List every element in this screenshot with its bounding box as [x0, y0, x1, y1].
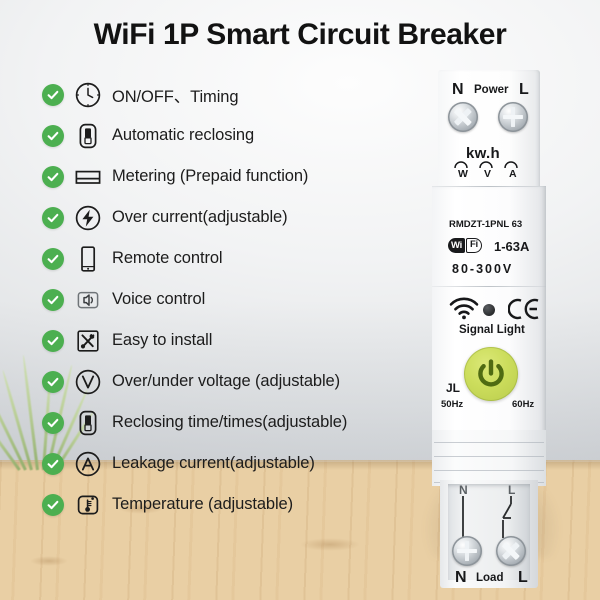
- feature-label: Temperature (adjustable): [112, 495, 293, 514]
- switch-icon: [73, 121, 103, 151]
- feature-row: Remote control: [42, 238, 412, 279]
- brand-label: JL: [446, 382, 460, 394]
- switch-icon: [73, 408, 103, 438]
- page-title: WiFi 1P Smart Circuit Breaker: [0, 18, 600, 52]
- ce-mark-icon: [508, 298, 540, 320]
- housing-ridge: [434, 470, 544, 471]
- feature-row: Automatic reclosing: [42, 115, 412, 156]
- feature-row: Reclosing time/times(adjustable): [42, 402, 412, 443]
- bottom-terminal-line-label: L: [518, 570, 528, 586]
- housing-seam: [432, 286, 546, 287]
- checkmark-icon: [42, 125, 64, 147]
- feature-label: Over current(adjustable): [112, 208, 288, 227]
- tools-icon: [73, 326, 103, 356]
- feature-label: Easy to install: [112, 331, 212, 350]
- signal-light-label: Signal Light: [459, 325, 525, 337]
- circuit-breaker-device: N Power L kw.h W V A RMDZT-1PNL 63 Wi Fi…: [432, 70, 546, 552]
- smartphone-icon: [73, 244, 103, 274]
- feature-label: Voice control: [112, 290, 205, 309]
- housing-seam: [432, 186, 546, 187]
- current-rating-label: 1-63A: [494, 240, 529, 253]
- checkmark-icon: [42, 84, 64, 106]
- power-symbol-icon: [474, 357, 508, 391]
- wood-knot: [30, 556, 68, 566]
- wifi-badge: Wi Fi: [448, 238, 482, 253]
- checkmark-icon: [42, 248, 64, 270]
- bottom-terminal-neutral-label: N: [455, 570, 467, 586]
- voltage-rating-label: 80-300V: [452, 263, 513, 276]
- wifi-badge-fi: Fi: [466, 238, 482, 253]
- signal-light-led: [483, 304, 495, 316]
- feature-row: Over current(adjustable): [42, 197, 412, 238]
- device-lower-housing: [432, 430, 546, 486]
- feature-label: ON/OFF、Timing: [112, 83, 238, 107]
- measure-unit-w: W: [458, 169, 468, 180]
- bottom-terminal-load-label: Load: [476, 573, 503, 585]
- checkmark-icon: [42, 207, 64, 229]
- thermometer-icon: [73, 490, 103, 520]
- checkmark-icon: [42, 453, 64, 475]
- meter-card-icon: [73, 162, 103, 192]
- feature-label: Automatic reclosing: [112, 126, 254, 145]
- clock-icon: [73, 80, 103, 110]
- checkmark-icon: [42, 166, 64, 188]
- wifi-signal-icon: [448, 296, 480, 320]
- top-terminal-neutral-label: N: [452, 82, 464, 98]
- bottom-terminal-screw-neutral[interactable]: [452, 536, 482, 566]
- top-terminal-line-label: L: [519, 82, 529, 98]
- feature-label: Leakage current(adjustable): [112, 454, 315, 473]
- feature-row: Metering (Prepaid function): [42, 156, 412, 197]
- top-terminal-power-label: Power: [474, 85, 509, 97]
- housing-ridge: [434, 456, 544, 457]
- voltage-v-icon: [73, 367, 103, 397]
- measure-unit-v: V: [484, 169, 491, 180]
- feature-label: Over/under voltage (adjustable): [112, 372, 340, 391]
- speaker-icon: [73, 285, 103, 315]
- feature-label: Remote control: [112, 249, 222, 268]
- measure-unit-a: A: [509, 169, 517, 180]
- frequency-60hz-label: 60Hz: [512, 400, 534, 410]
- top-terminal-screw-neutral[interactable]: [448, 102, 478, 132]
- checkmark-icon: [42, 494, 64, 516]
- housing-ridge: [434, 442, 544, 443]
- energy-unit-label: kw.h: [466, 146, 500, 161]
- feature-row: Easy to install: [42, 320, 412, 361]
- feature-list: ON/OFF、Timing Automatic reclosing Meteri…: [42, 74, 412, 525]
- wood-knot: [300, 538, 360, 551]
- lightning-icon: [73, 203, 103, 233]
- model-number-label: RMDZT-1PNL 63: [449, 220, 522, 230]
- feature-row: ON/OFF、Timing: [42, 74, 412, 115]
- wifi-badge-wi: Wi: [448, 238, 465, 253]
- feature-label: Reclosing time/times(adjustable): [112, 413, 347, 432]
- bottom-terminal-screw-line[interactable]: [496, 536, 526, 566]
- feature-row: Voice control: [42, 279, 412, 320]
- checkmark-icon: [42, 412, 64, 434]
- feature-row: Temperature (adjustable): [42, 484, 412, 525]
- feature-row: Leakage current(adjustable): [42, 443, 412, 484]
- checkmark-icon: [42, 289, 64, 311]
- checkmark-icon: [42, 330, 64, 352]
- checkmark-icon: [42, 371, 64, 393]
- measure-unit-arcs: [454, 160, 524, 169]
- frequency-50hz-label: 50Hz: [441, 400, 463, 410]
- top-terminal-screw-line[interactable]: [498, 102, 528, 132]
- power-button[interactable]: [464, 347, 518, 401]
- feature-row: Over/under voltage (adjustable): [42, 361, 412, 402]
- ampere-a-icon: [73, 449, 103, 479]
- feature-label: Metering (Prepaid function): [112, 167, 308, 186]
